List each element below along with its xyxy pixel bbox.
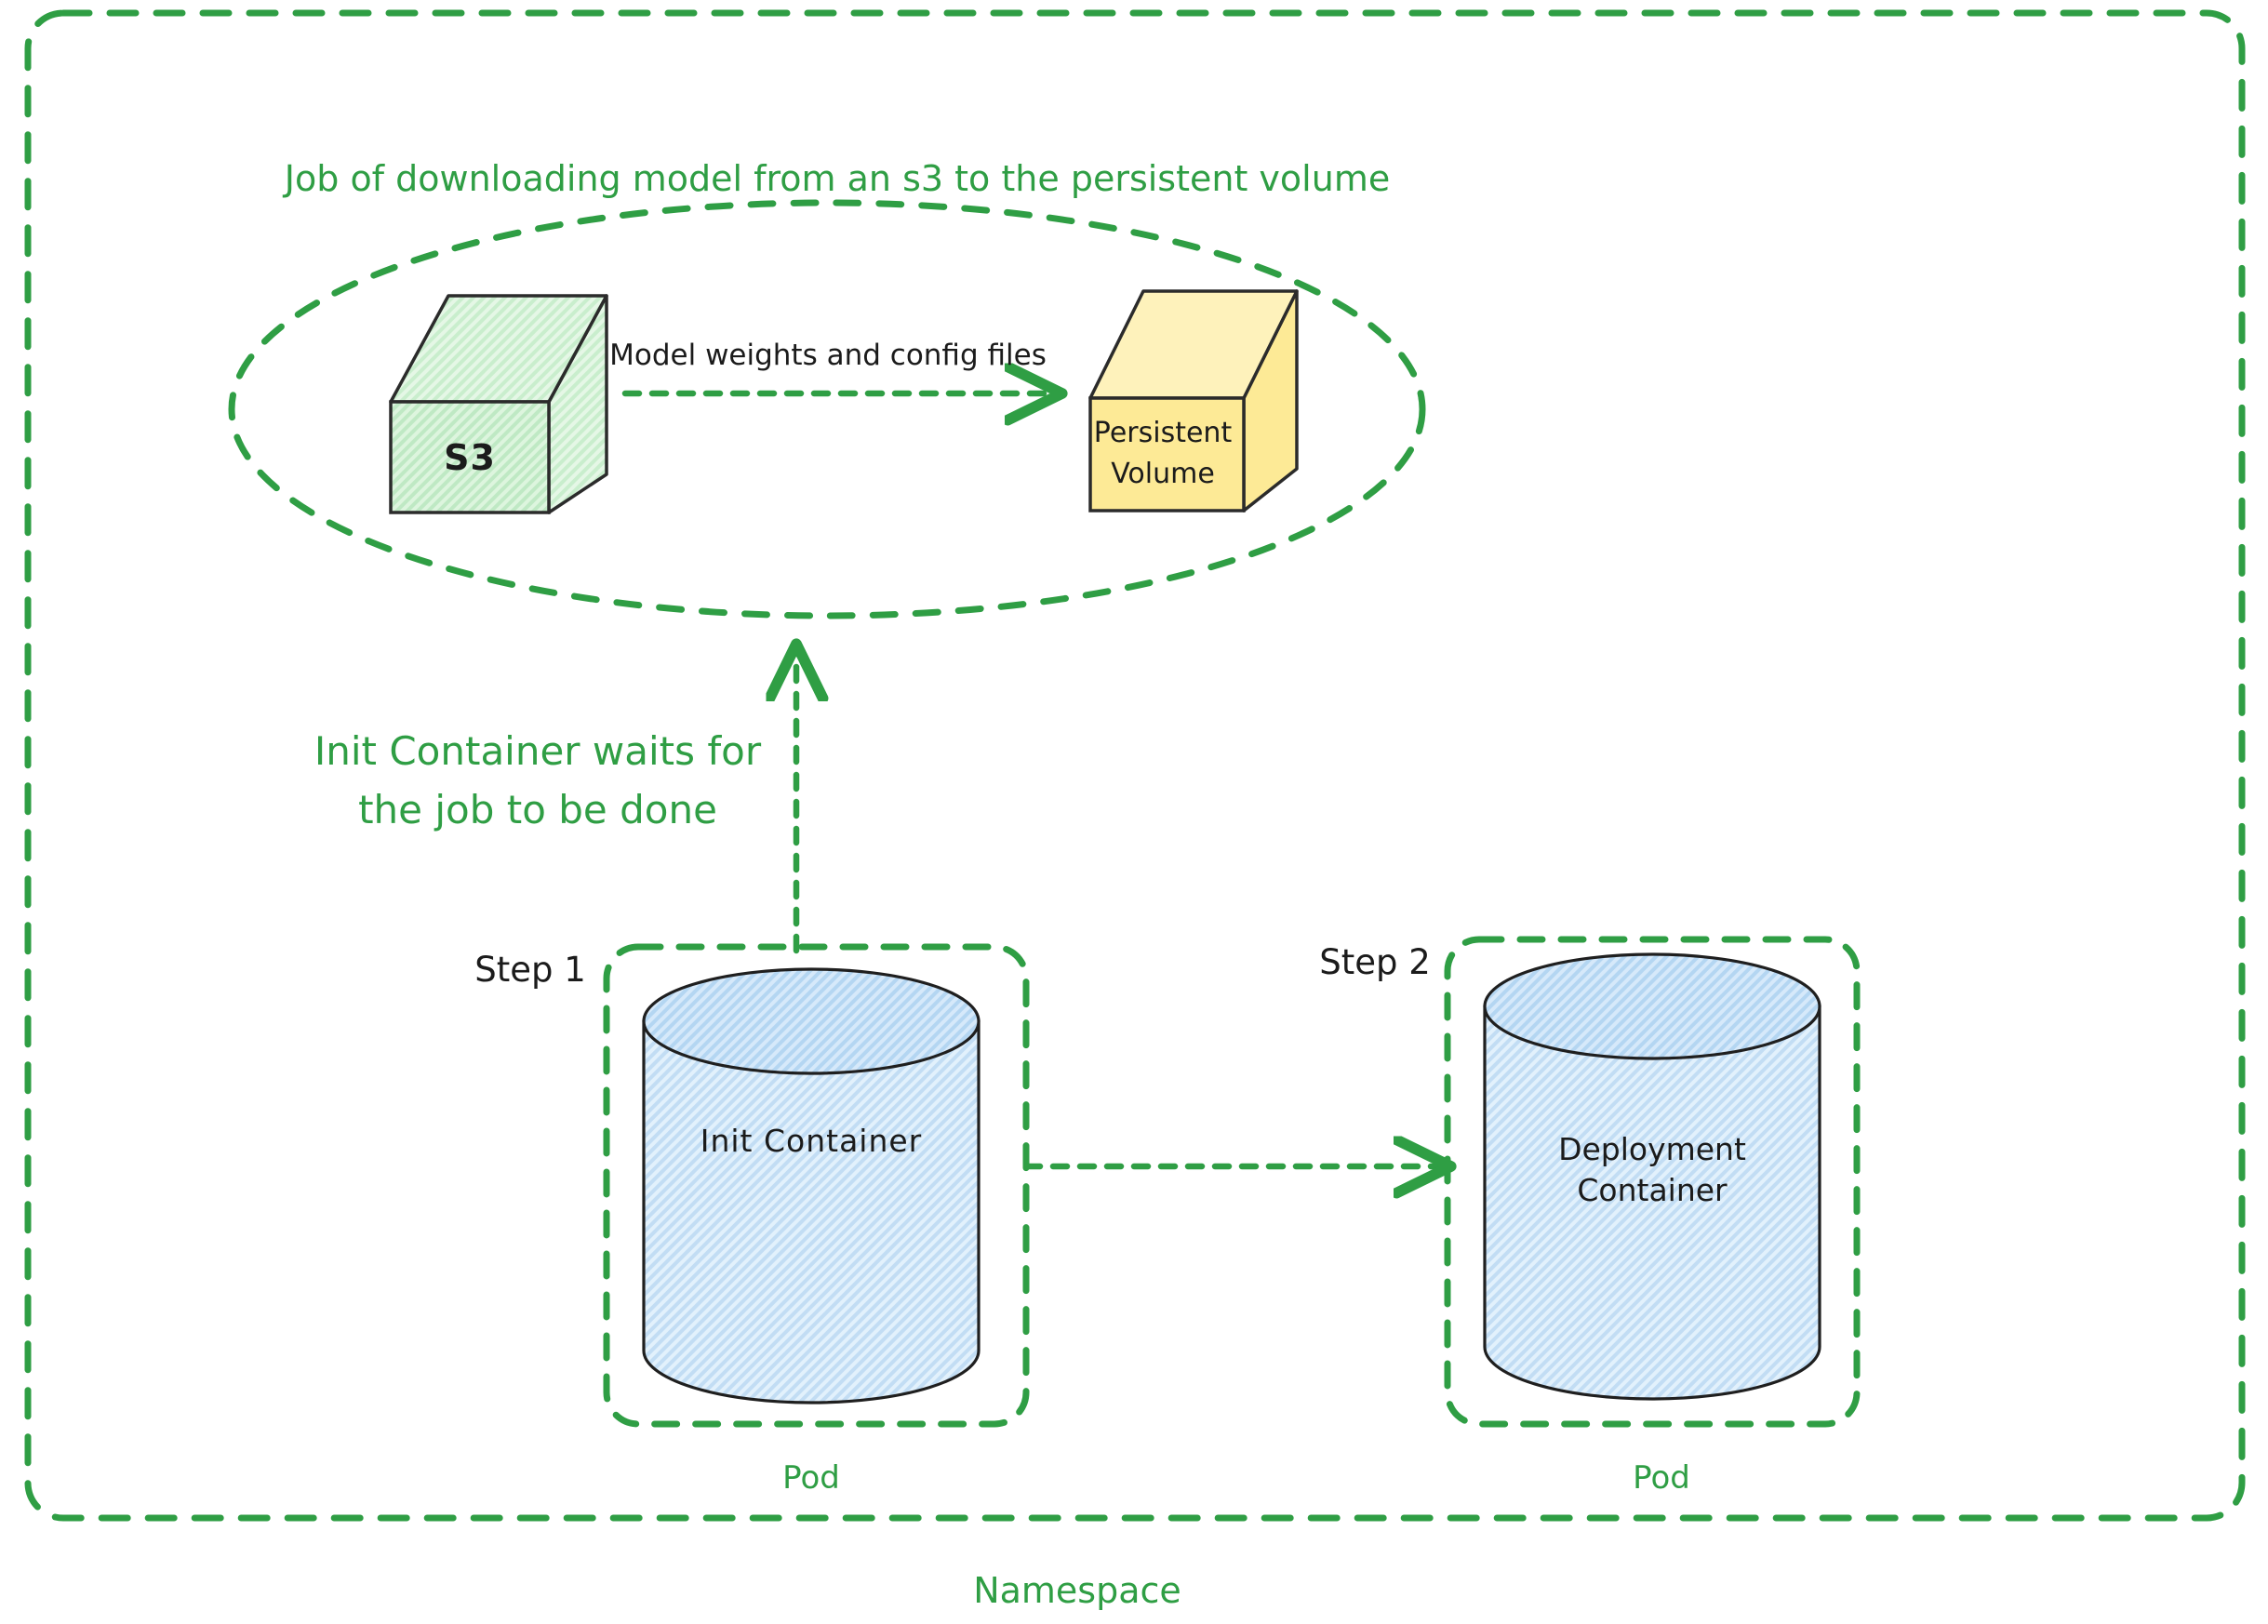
step-2-label: Step 2 — [1319, 942, 1431, 982]
architecture-diagram: S3 Persistent Volume Init C — [0, 0, 2268, 1624]
pv-cube-front-face — [1090, 398, 1244, 511]
pod-2[interactable]: Deployment Container — [1448, 939, 1857, 1424]
init-note-line2: the job to be done — [358, 787, 717, 832]
s3-label: S3 — [444, 437, 496, 478]
step-1-label: Step 1 — [474, 950, 586, 990]
deployment-container-label-line1: Deployment — [1558, 1131, 1746, 1167]
pod-1-label: Pod — [782, 1459, 840, 1497]
deployment-container-cylinder-top — [1485, 954, 1820, 1058]
pod-2-label: Pod — [1633, 1459, 1690, 1497]
init-note-line1: Init Container waits for — [314, 728, 762, 774]
init-container-label: Init Container — [700, 1123, 923, 1159]
s3-node[interactable]: S3 — [391, 296, 607, 512]
model-transfer-label: Model weights and config files — [609, 339, 1047, 372]
pod-1[interactable]: Init Container — [607, 947, 1026, 1424]
namespace-label: Namespace — [973, 1570, 1181, 1611]
pv-label-line2: Volume — [1111, 458, 1215, 490]
init-container-cylinder-top — [644, 969, 979, 1073]
diagram-canvas: S3 Persistent Volume Init C — [0, 0, 2268, 1624]
init-container-cylinder-body — [644, 1021, 979, 1403]
deployment-container-label-line2: Container — [1577, 1172, 1728, 1208]
persistent-volume-node[interactable]: Persistent Volume — [1090, 291, 1297, 511]
pv-label-line1: Persistent — [1094, 417, 1233, 449]
job-title-label: Job of downloading model from an s3 to t… — [283, 158, 1390, 199]
